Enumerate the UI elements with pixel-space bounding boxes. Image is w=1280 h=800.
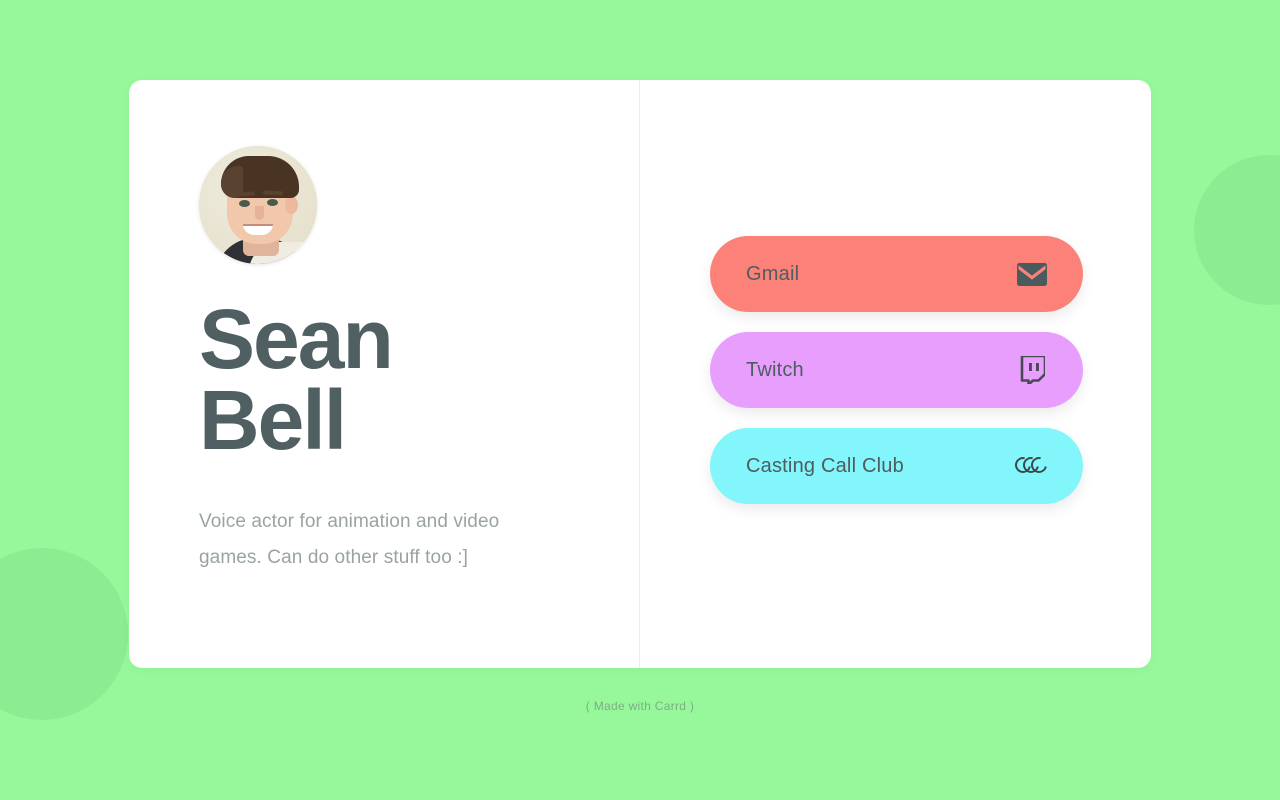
- link-button-casting-call-club[interactable]: Casting Call Club: [710, 428, 1083, 504]
- background-circle-top-right: [1194, 155, 1280, 305]
- envelope-icon: [1015, 257, 1049, 291]
- link-button-gmail[interactable]: Gmail: [710, 236, 1083, 312]
- page-title: Sean Bell: [199, 299, 499, 462]
- link-label-gmail: Gmail: [746, 263, 799, 286]
- links-pane: Gmail Twitch Casting Call Club: [640, 80, 1151, 668]
- avatar: [199, 146, 317, 264]
- ccc-logo-icon: [1015, 449, 1049, 483]
- profile-card: Sean Bell Voice actor for animation and …: [129, 80, 1151, 668]
- avatar-photo-eye-left: [239, 200, 250, 207]
- avatar-photo-ear: [285, 196, 298, 214]
- avatar-photo-eye-right: [267, 199, 278, 206]
- link-label-casting-call-club: Casting Call Club: [746, 455, 904, 478]
- twitch-icon: [1015, 353, 1049, 387]
- profile-pane: Sean Bell Voice actor for animation and …: [129, 80, 640, 668]
- profile-bio: Voice actor for animation and video game…: [199, 504, 559, 576]
- footer-credit[interactable]: ( Made with Carrd ): [0, 699, 1280, 713]
- link-label-twitch: Twitch: [746, 359, 804, 382]
- background-circle-bottom-left: [0, 548, 128, 720]
- avatar-photo-nose: [255, 206, 264, 220]
- link-button-twitch[interactable]: Twitch: [710, 332, 1083, 408]
